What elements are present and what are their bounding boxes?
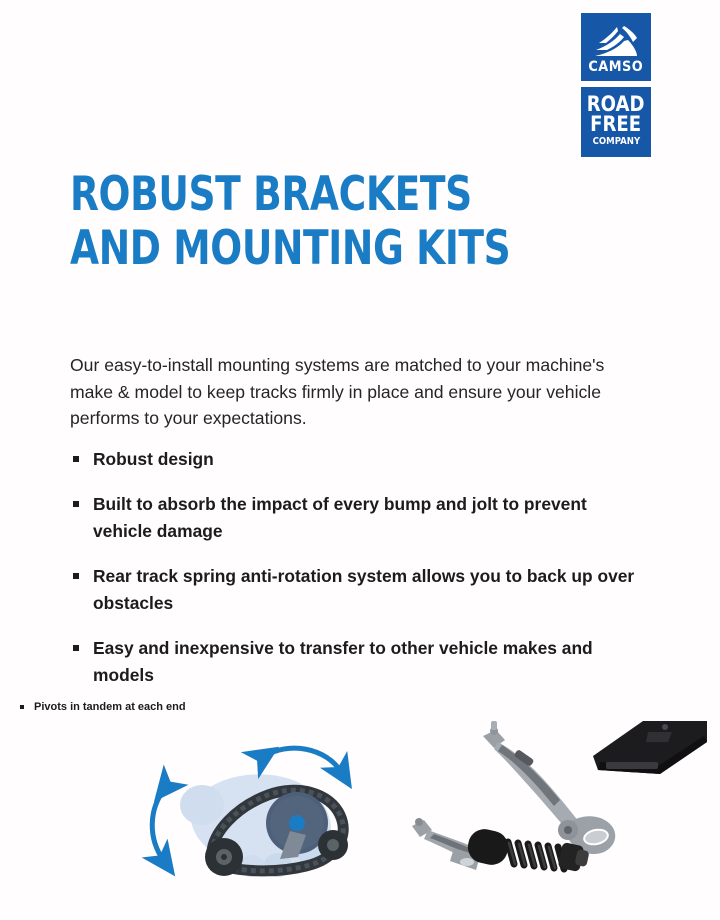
camso-mountain-mark-icon	[593, 25, 639, 57]
list-item: Robust design	[70, 446, 640, 472]
list-item: Rear track spring anti-rotation system a…	[70, 563, 640, 616]
road-free-company-logo-box: ROAD FREE COMPANY	[580, 86, 652, 158]
road-free-line-3: COMPANY	[592, 137, 640, 147]
figure-caption: Pivots in tandem at each end	[18, 700, 186, 714]
camso-wordmark: CAMSO	[589, 60, 644, 74]
list-item: Easy and inexpensive to transfer to othe…	[70, 635, 640, 688]
page-title-line-1: ROBUST BRACKETS	[70, 168, 518, 222]
page-root: CAMSO ROAD FREE COMPANY ROBUST BRACKETS …	[0, 0, 720, 920]
anti-rotation-arm-part	[483, 721, 615, 854]
page-title: ROBUST BRACKETS AND MOUNTING KITS	[70, 168, 630, 276]
track-diagram-svg	[140, 735, 400, 895]
intro-paragraph: Our easy-to-install mounting systems are…	[70, 352, 635, 432]
pivot-arrow-top	[263, 748, 342, 773]
road-free-line-2: FREE	[591, 115, 642, 135]
camso-logo-box: CAMSO	[580, 12, 652, 82]
pivot-arrow-left	[152, 787, 166, 861]
list-item: Built to absorb the impact of every bump…	[70, 491, 640, 544]
hardware-photo-svg	[410, 718, 710, 893]
black-mounting-bracket-part	[593, 721, 707, 774]
feature-list: Robust design Built to absorb the impact…	[70, 446, 640, 707]
mounting-hardware-photo	[410, 718, 710, 893]
rubber-track-pivot-diagram	[140, 735, 400, 895]
page-title-line-2: AND MOUNTING KITS	[70, 222, 518, 276]
brand-logo-block: CAMSO ROAD FREE COMPANY	[580, 12, 652, 158]
